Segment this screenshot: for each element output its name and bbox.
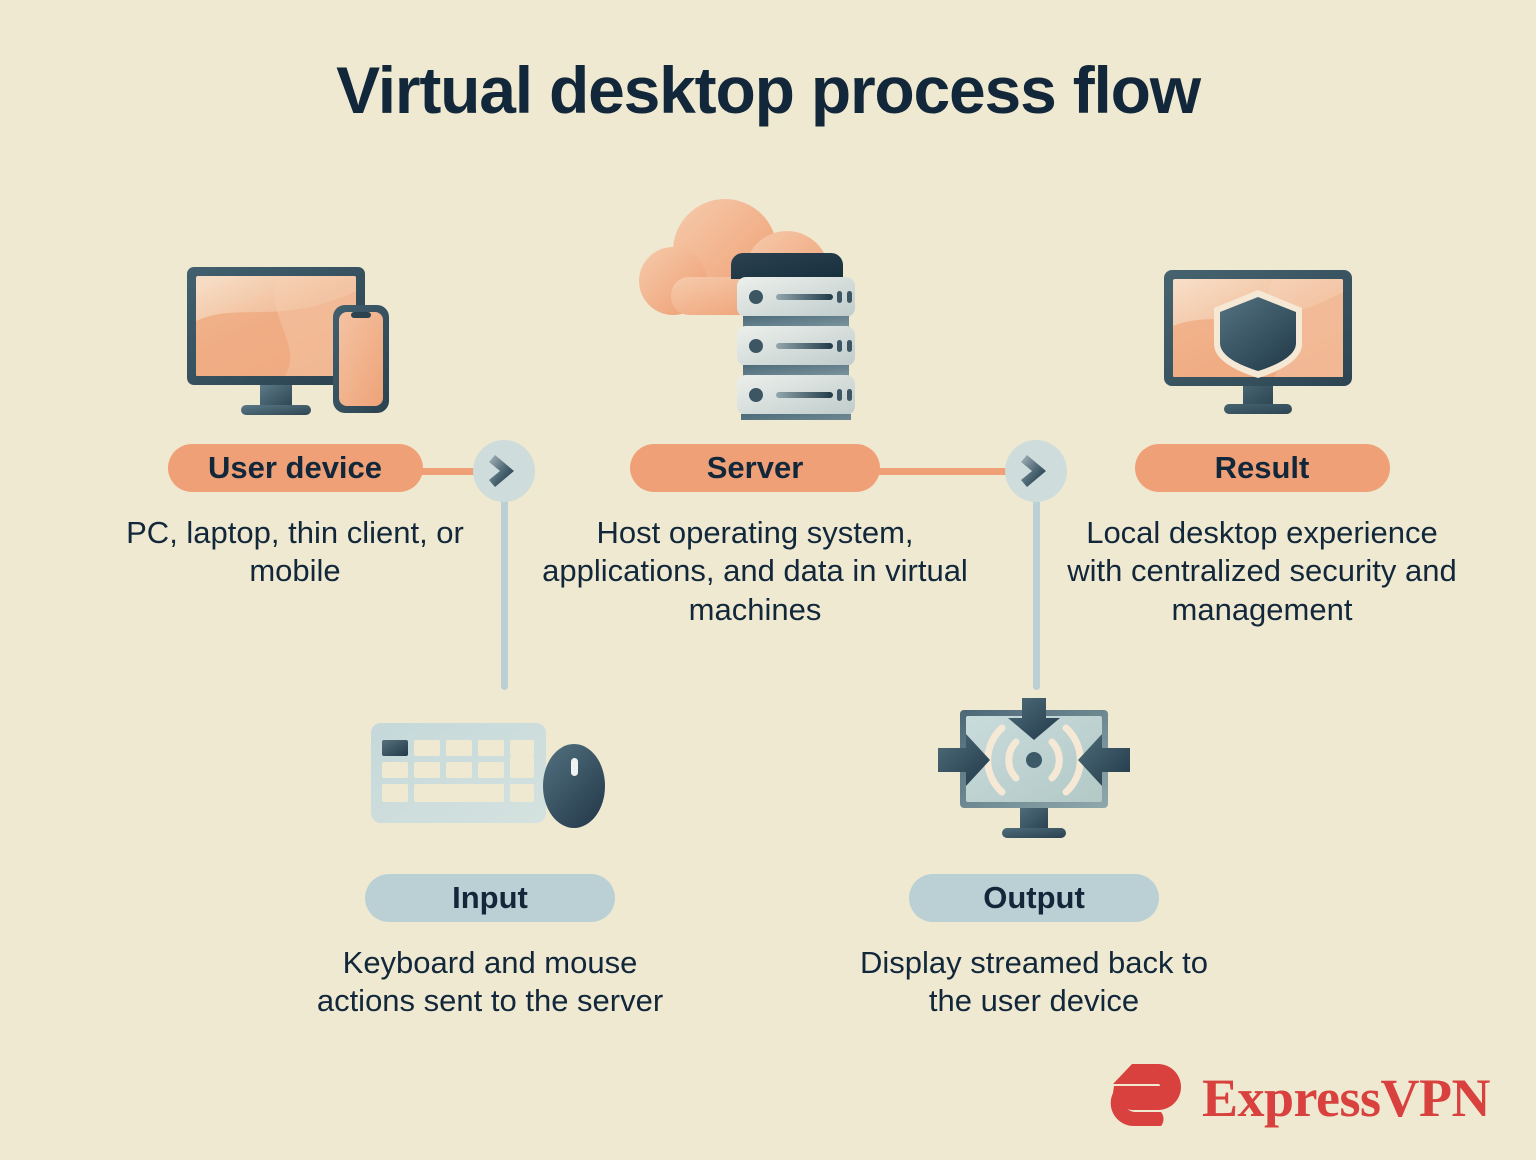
drop-line-to-input [501,490,508,690]
server-rack [731,253,855,420]
expressvpn-wordmark: ExpressVPN [1202,1071,1490,1125]
node-description-output: Display streamed back to the user device [848,944,1220,1021]
flow-node-result: Result Local desktop experience with cen… [1062,255,1462,629]
drop-line-to-output [1033,490,1040,690]
node-label-input[interactable]: Input [365,874,615,922]
pill-row-user-device: User device [95,444,495,492]
page-title: Virtual desktop process flow [0,52,1536,128]
node-label-output[interactable]: Output [909,874,1159,922]
flow-node-server: Server Host operating system, applicatio… [540,180,970,629]
expressvpn-logo-mark [1108,1062,1186,1133]
monitor-shield-icon [1062,255,1462,420]
node-description-server: Host operating system, applications, and… [540,514,970,629]
node-label-user-device[interactable]: User device [168,444,423,492]
node-label-server[interactable]: Server [630,444,880,492]
pill-row-input: Input [300,874,680,922]
monitor-streaming-icon [848,690,1220,850]
expressvpn-logo[interactable]: ExpressVPN [1108,1062,1490,1133]
node-description-result: Local desktop experience with centralize… [1062,514,1462,629]
flow-node-user-device: User device PC, laptop, thin client, or … [95,255,495,591]
cloud-server-rack-icon [540,180,970,420]
infographic-canvas: Virtual desktop process flow [0,0,1536,1160]
flow-connector-2 [1005,440,1067,502]
pill-row-result: Result [1062,444,1462,492]
pill-row-output: Output [848,874,1220,922]
node-description-user-device: PC, laptop, thin client, or mobile [95,514,495,591]
node-label-result[interactable]: Result [1135,444,1390,492]
flow-node-output: Output Display streamed back to the user… [848,690,1220,1021]
pill-row-server: Server [540,444,970,492]
monitor-and-phone-icon [95,255,495,420]
node-description-input: Keyboard and mouse actions sent to the s… [300,944,680,1021]
chevron-right-icon [1021,452,1051,490]
keyboard-and-mouse-icon [300,700,680,850]
flow-node-input: Input Keyboard and mouse actions sent to… [300,700,680,1021]
